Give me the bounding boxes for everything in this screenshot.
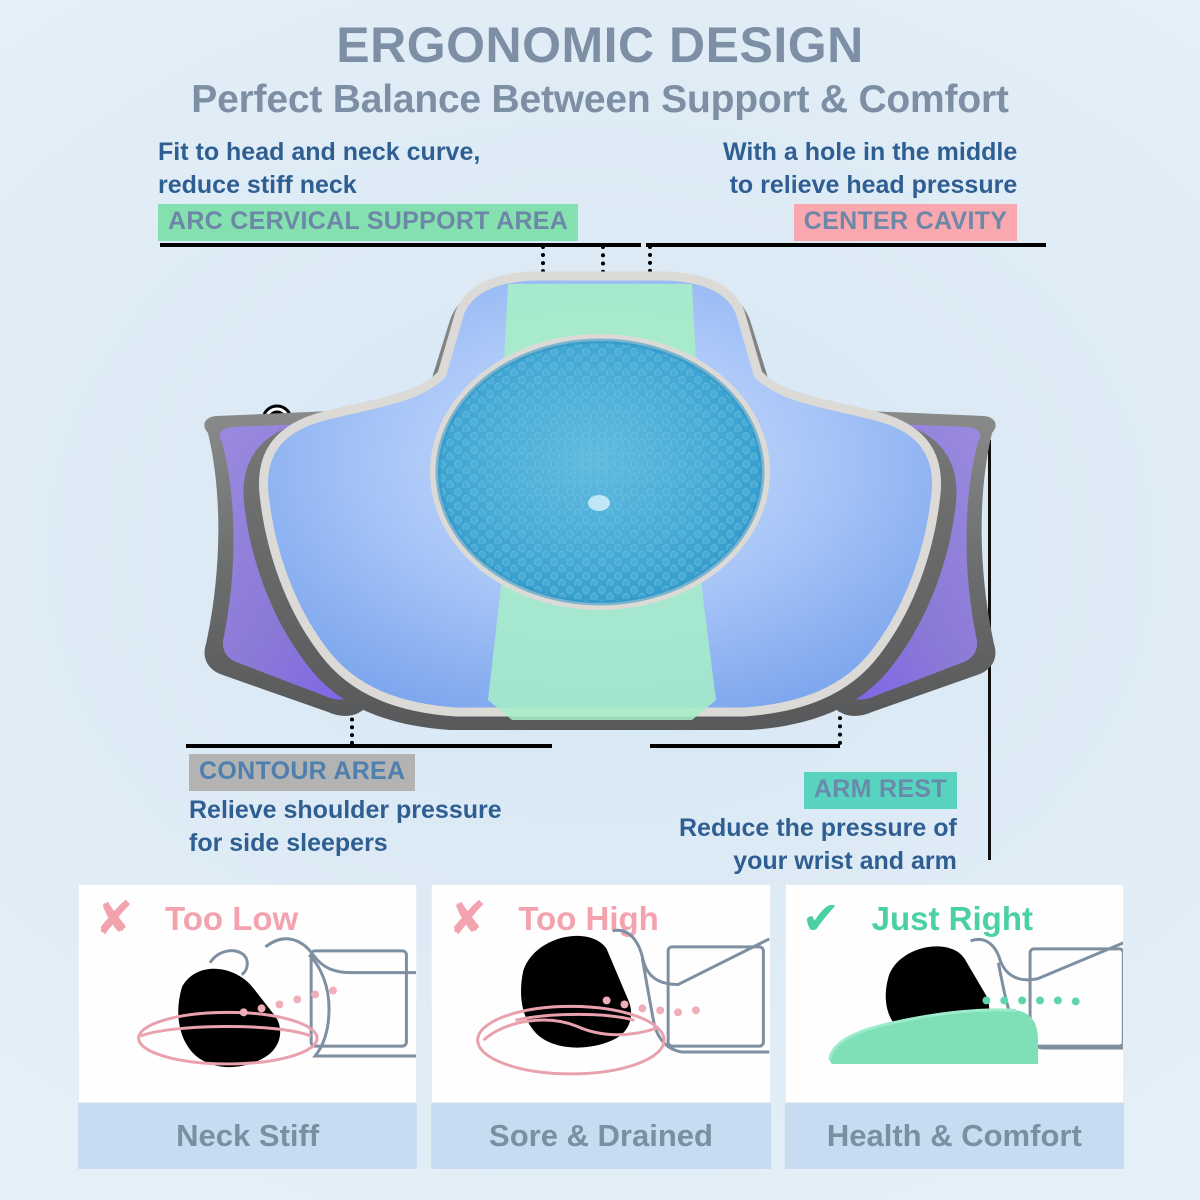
callout-contour-area: CONTOUR AREA Relieve shoulder pressure f… (189, 754, 502, 860)
callout-arm-rest: ARM REST Reduce the pressure of your wri… (679, 772, 957, 878)
tag-center-cavity: CENTER CAVITY (794, 204, 1017, 241)
page-subtitle: Perfect Balance Between Support & Comfor… (0, 76, 1200, 124)
leader-rule-top-right (646, 243, 1046, 247)
card-too-high: ✘ Too High Sore & Drain (431, 884, 770, 1169)
card-too-low: ✘ Too Low Neck Stiff (78, 884, 417, 1169)
callout-center-cavity: With a hole in the middle to relieve hea… (723, 136, 1017, 241)
infographic-canvas: ERGONOMIC DESIGN Perfect Balance Between… (0, 0, 1200, 1200)
pillow-illustration (150, 250, 1050, 750)
callout-desc-line2: your wrist and arm (679, 845, 957, 878)
tag-arc-cervical-support-area: ARC CERVICAL SUPPORT AREA (158, 204, 578, 241)
page-title: ERGONOMIC DESIGN (0, 16, 1200, 74)
center-cavity-gel (430, 334, 770, 610)
comparison-cards: ✘ Too Low Neck Stiff (78, 884, 1124, 1169)
header: ERGONOMIC DESIGN Perfect Balance Between… (0, 16, 1200, 124)
card-illustration: ✘ Too High (431, 884, 770, 1103)
card-caption: Neck Stiff (78, 1103, 417, 1169)
callout-desc-line2: to relieve head pressure (723, 169, 1017, 202)
callout-desc-line1: Fit to head and neck curve, (158, 136, 578, 169)
leader-rule-top-left (160, 243, 641, 247)
callout-arc-cervical-support-area: Fit to head and neck curve, reduce stiff… (158, 136, 578, 241)
callout-desc-line1: Reduce the pressure of (679, 812, 957, 845)
card-illustration: ✔ Just Right (785, 884, 1124, 1103)
card-just-right: ✔ Just Right Health & Comfort (785, 884, 1124, 1169)
callout-desc-line2: for side sleepers (189, 827, 502, 860)
center-cavity-hole (588, 495, 610, 511)
callout-desc-line1: With a hole in the middle (723, 136, 1017, 169)
callout-desc-line1: Relieve shoulder pressure (189, 794, 502, 827)
tag-contour-area: CONTOUR AREA (189, 754, 415, 791)
card-caption: Sore & Drained (431, 1103, 770, 1169)
tag-arm-rest: ARM REST (804, 772, 957, 809)
callout-desc-line2: reduce stiff neck (158, 169, 578, 202)
card-caption: Health & Comfort (785, 1103, 1124, 1169)
card-illustration: ✘ Too Low (78, 884, 417, 1103)
